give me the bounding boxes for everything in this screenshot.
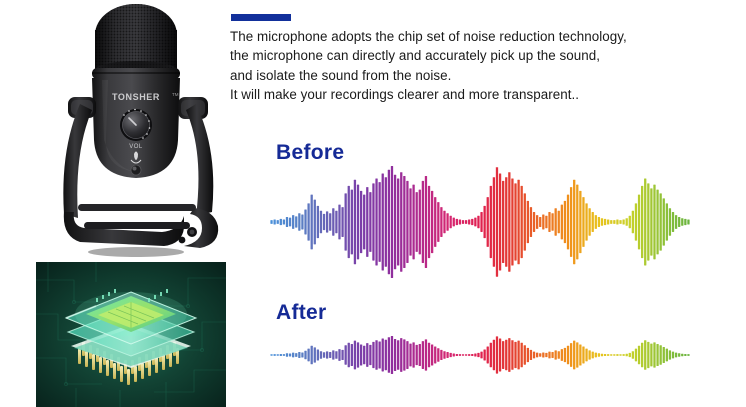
waveform-bar	[273, 220, 275, 225]
waveform-bar	[635, 203, 637, 240]
waveform-bar	[301, 215, 303, 230]
waveform-bar	[687, 220, 689, 225]
waveform-bar	[443, 211, 445, 233]
waveform-bar	[394, 339, 396, 371]
waveform-bar	[487, 347, 489, 364]
waveform-bar	[499, 173, 501, 270]
waveform-bar	[351, 344, 353, 366]
waveform-bar	[335, 211, 337, 233]
waveform-bar	[388, 170, 390, 275]
waveform-bar	[280, 354, 282, 356]
before-waveform-bars	[270, 166, 690, 278]
waveform-bar	[332, 350, 334, 359]
waveform-bar	[428, 343, 430, 367]
waveform-bar	[397, 178, 399, 265]
waveform-bar	[595, 353, 597, 358]
waveform-bar	[644, 178, 646, 265]
waveform-bar	[644, 340, 646, 370]
waveform-bar	[542, 215, 544, 230]
waveform-bar	[450, 216, 452, 228]
waveform-bar	[329, 213, 331, 230]
waveform-bar	[283, 220, 285, 225]
waveform-bar	[477, 353, 479, 357]
waveform-bar	[289, 354, 291, 357]
waveform-bar	[576, 342, 578, 367]
waveform-bar	[514, 183, 516, 260]
waveform-bar	[607, 220, 609, 225]
waveform-bar	[369, 192, 371, 252]
waveform-bar	[610, 220, 612, 224]
waveform-bar	[650, 344, 652, 367]
waveform-bar	[388, 337, 390, 372]
waveform-bar	[378, 341, 380, 368]
waveform-bar	[622, 354, 624, 356]
waveform-bar	[345, 193, 347, 250]
waveform-bar	[314, 200, 316, 245]
waveform-bar	[468, 220, 470, 225]
microphone-collar-ring	[92, 68, 180, 79]
waveform-bar	[499, 339, 501, 372]
waveform-bar	[663, 198, 665, 245]
waveform-bar	[456, 354, 458, 356]
waveform-bar	[622, 220, 624, 225]
waveform-bar	[471, 354, 473, 356]
waveform-bar	[459, 354, 461, 356]
waveform-bar	[406, 341, 408, 369]
waveform-bar	[666, 203, 668, 240]
waveform-bar	[431, 344, 433, 365]
before-label: Before	[276, 141, 344, 165]
waveform-bar	[517, 341, 519, 370]
svg-text:TONSHER: TONSHER	[112, 92, 160, 102]
waveform-bar	[443, 351, 445, 359]
waveform-bar	[283, 354, 285, 356]
waveform-bar	[511, 178, 513, 265]
waveform-bar	[647, 183, 649, 260]
waveform-bar	[567, 346, 569, 365]
waveform-bar	[311, 346, 313, 365]
waveform-bar	[669, 208, 671, 235]
waveform-bar	[502, 181, 504, 263]
waveform-bar	[598, 353, 600, 356]
waveform-bar	[490, 186, 492, 258]
waveform-bar	[521, 343, 523, 367]
waveform-bar	[669, 350, 671, 359]
after-waveform-bars	[270, 333, 690, 377]
svg-text:VOL: VOL	[129, 144, 143, 150]
waveform-bar	[369, 345, 371, 365]
waveform-bar	[656, 190, 658, 255]
waveform-bar	[422, 181, 424, 263]
waveform-bar	[582, 347, 584, 364]
waveform-bar	[385, 340, 387, 370]
waveform-bar	[505, 177, 507, 267]
waveform-bar	[508, 172, 510, 272]
waveform-bar	[419, 190, 421, 255]
waveform-bar	[530, 350, 532, 360]
waveform-bar	[450, 353, 452, 357]
waveform-bar	[524, 345, 526, 364]
waveform-bar	[493, 177, 495, 267]
waveform-bar	[579, 344, 581, 365]
waveform-bar	[551, 213, 553, 230]
waveform-bar	[289, 218, 291, 227]
waveform-bar	[453, 354, 455, 357]
waveform-bar	[684, 354, 686, 356]
waveform-bar	[579, 191, 581, 253]
waveform-bar	[660, 345, 662, 364]
waveform-bar	[660, 193, 662, 250]
waveform-bar	[431, 191, 433, 253]
waveform-bar	[338, 205, 340, 240]
waveform-bar	[357, 342, 359, 367]
waveform-bar	[530, 207, 532, 237]
waveform-bar	[582, 197, 584, 247]
waveform-bar	[382, 339, 384, 372]
waveform-bar	[527, 348, 529, 362]
waveform-bar	[511, 340, 513, 370]
waveform-bar	[548, 352, 550, 359]
waveform-bar	[684, 219, 686, 225]
waveform-bar	[323, 214, 325, 230]
waveform-bar	[650, 188, 652, 255]
waveform-bar	[323, 352, 325, 357]
waveform-bar	[675, 353, 677, 358]
waveform-bar	[496, 167, 498, 277]
waveform-bar	[425, 339, 427, 370]
waveform-bar	[613, 354, 615, 355]
waveform-bar	[440, 207, 442, 237]
waveform-bar	[561, 349, 563, 361]
waveform-bar	[412, 185, 414, 260]
waveform-bar	[505, 340, 507, 370]
waveform-bar	[490, 343, 492, 367]
waveform-bar	[558, 211, 560, 233]
waveform-bar	[573, 180, 575, 265]
waveform-bar	[437, 348, 439, 362]
waveform-bar	[626, 354, 628, 357]
waveform-bar	[601, 354, 603, 357]
svg-text:TM: TM	[172, 92, 179, 97]
waveform-bar	[403, 339, 405, 370]
waveform-bar	[604, 354, 606, 356]
waveform-bar	[533, 352, 535, 359]
waveform-bar	[656, 344, 658, 366]
waveform-bar	[548, 212, 550, 232]
chip-glow	[75, 292, 187, 336]
waveform-bar	[638, 195, 640, 250]
waveform-bar	[474, 218, 476, 227]
waveform-bar	[446, 352, 448, 358]
waveform-bar	[295, 353, 297, 357]
waveform-bar	[366, 187, 368, 257]
waveform-bar	[440, 350, 442, 360]
waveform-bar	[351, 190, 353, 255]
waveform-bar	[542, 352, 544, 357]
waveform-bar	[394, 175, 396, 270]
waveform-bar	[483, 206, 485, 238]
waveform-bar	[317, 206, 319, 238]
waveform-bar	[647, 342, 649, 368]
waveform-bar	[286, 353, 288, 356]
waveform-bar	[360, 191, 362, 253]
waveform-bar	[678, 353, 680, 356]
waveform-bar	[551, 352, 553, 358]
chipset-image	[36, 262, 226, 407]
waveform-bar	[338, 349, 340, 361]
waveform-bar	[666, 349, 668, 362]
description-line-1: The microphone adopts the chip set of no…	[230, 27, 730, 46]
waveform-bar	[570, 187, 572, 257]
waveform-bar	[632, 351, 634, 359]
waveform-bar	[480, 212, 482, 232]
waveform-bar	[601, 218, 603, 225]
waveform-bar	[545, 216, 547, 228]
waveform-bar	[363, 346, 365, 365]
waveform-bar	[678, 217, 680, 227]
waveform-bar	[341, 207, 343, 237]
waveform-bar	[545, 353, 547, 357]
waveform-bar	[663, 347, 665, 363]
waveform-bar	[307, 203, 309, 240]
waveform-bar	[641, 343, 643, 367]
waveform-bar	[419, 344, 421, 366]
waveform-bar	[348, 186, 350, 258]
waveform-bar	[409, 344, 411, 367]
waveform-bar	[508, 338, 510, 372]
waveform-bar	[607, 354, 609, 356]
waveform-bar	[301, 352, 303, 357]
waveform-bar	[277, 220, 279, 224]
waveform-bar	[286, 217, 288, 227]
waveform-bar	[629, 216, 631, 228]
waveform-bar	[320, 211, 322, 233]
waveform-bar	[304, 351, 306, 359]
waveform-bar	[280, 219, 282, 225]
waveform-bar	[477, 216, 479, 228]
waveform-bar	[536, 353, 538, 358]
microphone-grille	[95, 4, 177, 79]
waveform-bar	[453, 218, 455, 227]
waveform-bar	[437, 202, 439, 242]
waveform-bar	[465, 220, 467, 224]
waveform-bar	[626, 218, 628, 225]
waveform-bar	[585, 349, 587, 362]
waveform-bar	[385, 177, 387, 267]
waveform-bar	[348, 343, 350, 367]
waveform-bar	[619, 220, 621, 224]
description-line-4: It will make your recordings clearer and…	[230, 85, 730, 104]
waveform-bar	[616, 220, 618, 225]
waveform-bar	[363, 195, 365, 250]
waveform-bar	[400, 338, 402, 372]
waveform-bar	[375, 340, 377, 370]
microphone-illustration: TONSHER TM VOL	[44, 0, 236, 258]
waveform-bar	[598, 217, 600, 227]
waveform-bar	[446, 213, 448, 230]
waveform-bar	[372, 183, 374, 260]
waveform-bar	[539, 353, 541, 356]
waveform-bar	[456, 219, 458, 225]
waveform-bar	[406, 181, 408, 263]
waveform-bar	[681, 218, 683, 225]
waveform-bar	[555, 208, 557, 235]
waveform-bar	[619, 354, 621, 355]
waveform-bar	[570, 343, 572, 367]
waveform-bar	[471, 219, 473, 225]
waveform-bar	[524, 193, 526, 250]
after-label: After	[276, 301, 327, 325]
waveform-bar	[483, 350, 485, 361]
waveform-bar	[273, 354, 275, 356]
waveform-bar	[573, 341, 575, 370]
waveform-bar	[613, 220, 615, 224]
waveform-bar	[588, 208, 590, 235]
waveform-bar	[462, 354, 464, 355]
waveform-bar	[354, 180, 356, 265]
waveform-bar	[391, 336, 393, 374]
waveform-bar	[311, 195, 313, 250]
waveform-bar	[382, 173, 384, 270]
waveform-bar	[270, 220, 272, 224]
waveform-bar	[592, 352, 594, 359]
waveform-bar	[564, 201, 566, 243]
waveform-bar	[585, 203, 587, 240]
waveform-bar	[539, 217, 541, 227]
waveform-bar	[412, 342, 414, 367]
waveform-bar	[629, 353, 631, 357]
waveform-bar	[465, 354, 467, 355]
description-text: The microphone adopts the chip set of no…	[230, 27, 730, 105]
description-line-3: and isolate the sound from the noise.	[230, 66, 730, 85]
waveform-bar	[292, 215, 294, 229]
waveform-bar	[298, 213, 300, 230]
waveform-bar	[616, 354, 618, 356]
waveform-bar	[298, 352, 300, 358]
waveform-bar	[326, 351, 328, 358]
description-line-2: the microphone can directly and accurate…	[230, 46, 730, 65]
waveform-bar	[687, 354, 689, 356]
waveform-bar	[493, 340, 495, 370]
waveform-bar	[672, 212, 674, 232]
waveform-bar	[653, 342, 655, 367]
waveform-bar	[681, 354, 683, 357]
waveform-bar	[672, 352, 674, 359]
waveform-bar	[561, 205, 563, 240]
waveform-bar	[555, 350, 557, 359]
waveform-bar	[375, 178, 377, 265]
waveform-bar	[409, 188, 411, 255]
waveform-bar	[610, 354, 612, 355]
waveform-bar	[295, 216, 297, 227]
waveform-bar	[428, 186, 430, 258]
waveform-bar	[277, 354, 279, 355]
waveform-bar	[604, 219, 606, 225]
waveform-bar	[514, 342, 516, 368]
waveform-bar	[397, 340, 399, 370]
waveform-bar	[416, 192, 418, 252]
waveform-bar	[434, 197, 436, 247]
accent-bar	[231, 14, 291, 21]
waveform-bar	[502, 341, 504, 369]
waveform-bar	[332, 208, 334, 235]
waveform-bar	[326, 211, 328, 232]
before-waveform-chart	[270, 166, 690, 278]
waveform-bar	[567, 195, 569, 250]
waveform-bar	[345, 345, 347, 364]
waveform-bar	[462, 220, 464, 224]
waveform-bar	[372, 342, 374, 368]
waveform-bar	[536, 215, 538, 229]
waveform-bar	[341, 350, 343, 360]
waveform-bar	[400, 172, 402, 272]
waveform-bar	[517, 180, 519, 265]
waveform-bar	[320, 351, 322, 359]
microchip-illustration	[36, 262, 226, 407]
waveform-bar	[360, 344, 362, 365]
waveform-bar	[468, 354, 470, 356]
waveform-bar	[635, 349, 637, 362]
waveform-bar	[558, 351, 560, 359]
waveform-bar	[641, 186, 643, 258]
after-waveform-chart	[270, 333, 690, 377]
waveform-bar	[521, 186, 523, 258]
waveform-bar	[632, 211, 634, 233]
waveform-bar	[357, 185, 359, 260]
waveform-bar	[592, 212, 594, 232]
waveform-bar	[335, 351, 337, 359]
waveform-bar	[576, 185, 578, 260]
promo-page: TONSHER TM VOL	[0, 0, 746, 407]
waveform-bar	[496, 336, 498, 373]
waveform-bar	[595, 215, 597, 229]
waveform-bar	[533, 212, 535, 232]
waveform-bar	[403, 176, 405, 268]
waveform-bar	[292, 353, 294, 358]
waveform-bar	[487, 197, 489, 247]
waveform-bar	[564, 348, 566, 362]
waveform-bar	[270, 354, 272, 355]
waveform-bar	[480, 352, 482, 359]
waveform-bar	[366, 343, 368, 367]
microphone-product-image: TONSHER TM VOL	[44, 0, 236, 258]
waveform-bar	[329, 352, 331, 358]
waveform-bar	[317, 350, 319, 361]
waveform-bar	[354, 341, 356, 370]
waveform-bar	[588, 350, 590, 359]
waveform-bar	[416, 345, 418, 365]
waveform-bar	[434, 347, 436, 364]
waveform-bar	[304, 210, 306, 235]
waveform-bar	[425, 176, 427, 268]
waveform-bar	[474, 354, 476, 357]
waveform-bar	[653, 185, 655, 260]
waveform-bar	[378, 182, 380, 262]
waveform-bar	[422, 341, 424, 369]
waveform-bar	[638, 346, 640, 365]
waveform-bar	[307, 349, 309, 362]
waveform-bar	[527, 201, 529, 243]
waveform-bar	[314, 347, 316, 362]
waveform-bar	[391, 166, 393, 278]
waveform-bar	[675, 215, 677, 229]
waveform-bar	[459, 220, 461, 225]
